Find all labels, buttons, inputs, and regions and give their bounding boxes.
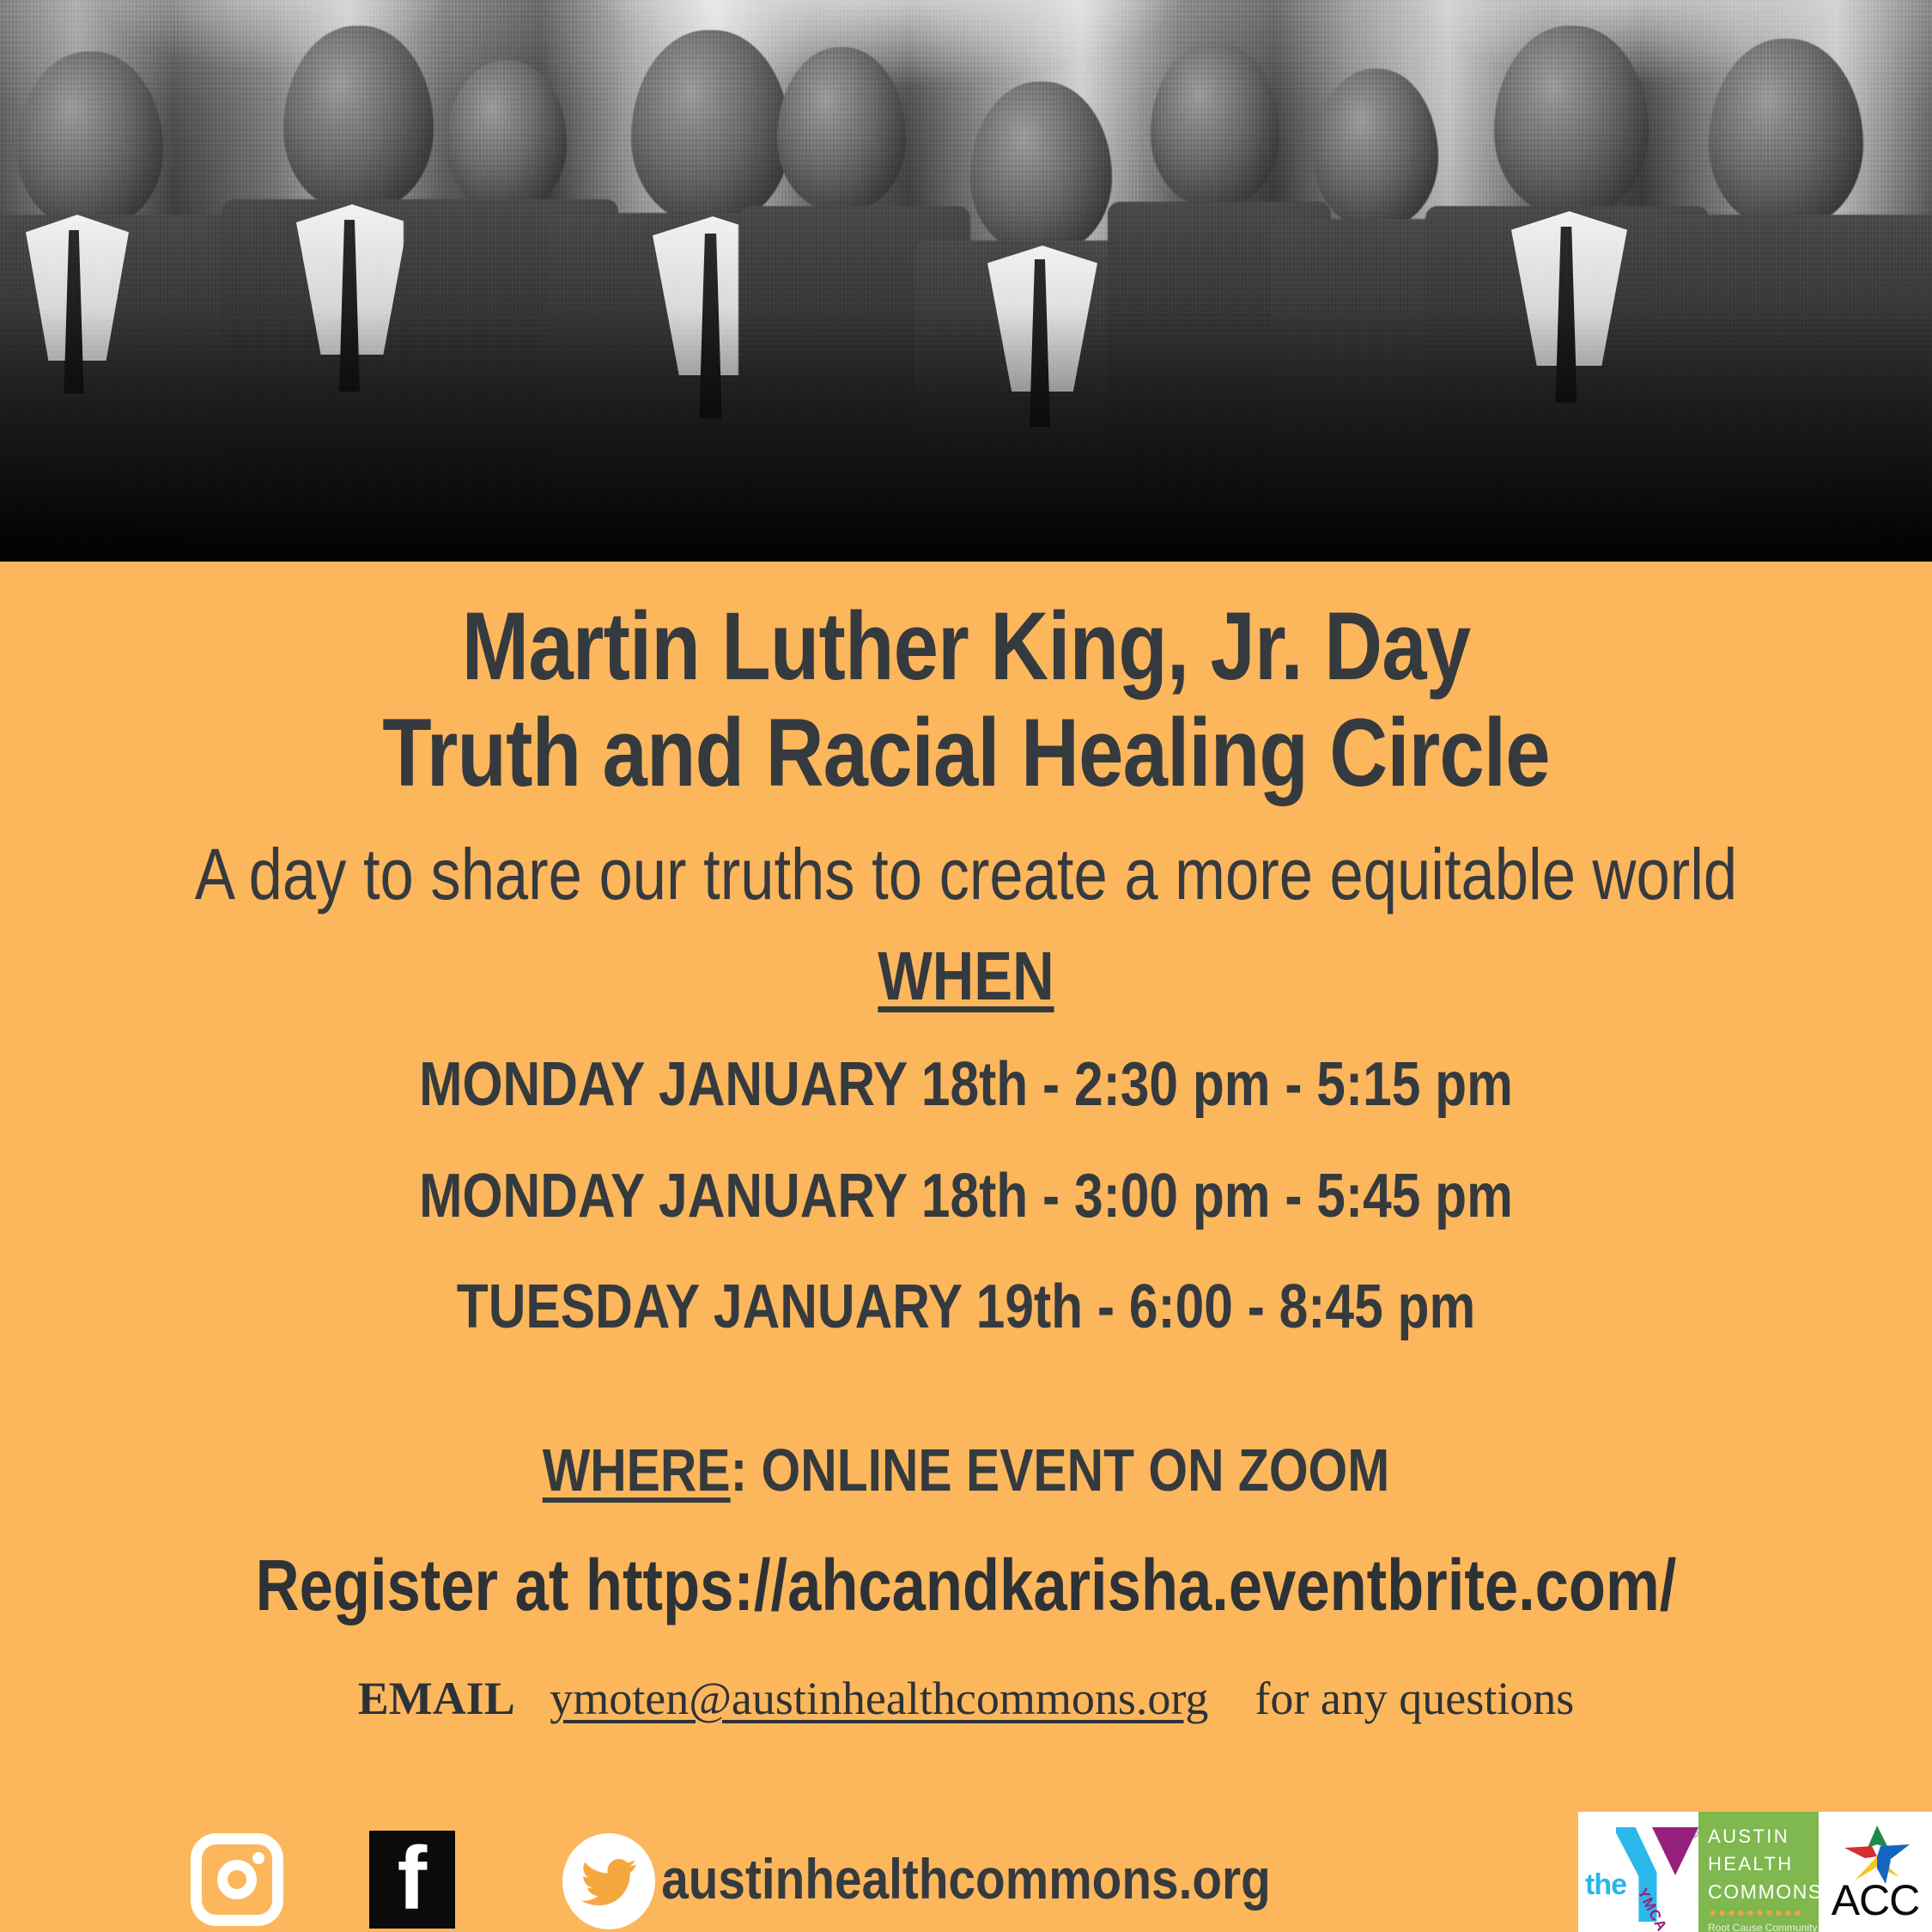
ymca-logo-the: the (1585, 1868, 1626, 1902)
where-label: WHERE (543, 1437, 731, 1504)
ahc-logo-dot-rule (1708, 1910, 1804, 1917)
ahc-logo-line1: AUSTIN (1708, 1827, 1819, 1846)
subtitle-text: A day to share our truths to create a mo… (155, 835, 1777, 914)
where-line: WHERE: ONLINE EVENT ON ZOOM (0, 1436, 1932, 1504)
page-title-line2-text: Truth and Racial Healing Circle (155, 704, 1777, 802)
ymca-logo-registered-mark: ® (1690, 1827, 1698, 1840)
flyer-canvas: Martin Luther King, Jr. Day Truth and Ra… (0, 0, 1932, 1932)
acc-logo-wordmark: ACC (1819, 1879, 1932, 1922)
ahc-logo-line3: COMMONS (1708, 1882, 1819, 1902)
austin-health-commons-logo: AUSTIN HEALTH COMMONS Root Cause Communi… (1698, 1812, 1819, 1932)
when-heading-inner: WHEN (155, 937, 1777, 1016)
where-line-inner: WHERE: ONLINE EVENT ON ZOOM (155, 1436, 1777, 1504)
partner-logo-strip: the ® YMCA AUSTIN HEALTH COMMONS Root Ca… (1578, 1812, 1932, 1932)
where-value: : ONLINE EVENT ON ZOOM (731, 1437, 1390, 1504)
when-session-2-text: MONDAY JANUARY 18th - 3:00 pm - 5:45 pm (155, 1163, 1777, 1230)
when-session-1: MONDAY JANUARY 18th - 2:30 pm - 5:15 pm (0, 1052, 1932, 1119)
website-url-text[interactable]: austinhealthcommons.org (136, 1846, 1797, 1911)
page-title-line1-text: Martin Luther King, Jr. Day (155, 598, 1777, 696)
email-label: EMAIL (358, 1673, 515, 1724)
register-line[interactable]: Register at https://ahcandkarisha.eventb… (0, 1544, 1932, 1627)
email-suffix: for any questions (1255, 1673, 1574, 1724)
when-session-2: MONDAY JANUARY 18th - 3:00 pm - 5:45 pm (0, 1163, 1932, 1230)
when-heading: WHEN (0, 937, 1932, 1016)
ahc-logo-tagline: Root Cause Community Healing (1708, 1922, 1819, 1932)
subtitle: A day to share our truths to create a mo… (0, 835, 1932, 914)
acc-logo: ACC (1819, 1812, 1932, 1932)
email-address[interactable]: ymoten@austinhealthcommons.org (550, 1673, 1208, 1724)
ahc-logo-line2: HEALTH (1708, 1855, 1819, 1874)
email-line: EMAIL ymoten@austinhealthcommons.org for… (0, 1672, 1932, 1725)
page-title-line1: Martin Luther King, Jr. Day (0, 598, 1932, 696)
ymca-logo: the ® YMCA (1578, 1812, 1698, 1932)
flyer-content: Martin Luther King, Jr. Day Truth and Ra… (0, 562, 1932, 1932)
when-heading-text: WHEN (878, 938, 1054, 1014)
register-text[interactable]: Register at https://ahcandkarisha.eventb… (155, 1544, 1777, 1627)
photo-vignette (0, 0, 1932, 562)
when-session-1-text: MONDAY JANUARY 18th - 2:30 pm - 5:15 pm (155, 1052, 1777, 1119)
when-session-3-text: TUESDAY JANUARY 19th - 6:00 - 8:45 pm (155, 1274, 1777, 1341)
mlk-march-photo (0, 0, 1932, 562)
page-title-line2: Truth and Racial Healing Circle (0, 704, 1932, 802)
when-session-3: TUESDAY JANUARY 19th - 6:00 - 8:45 pm (0, 1274, 1932, 1341)
